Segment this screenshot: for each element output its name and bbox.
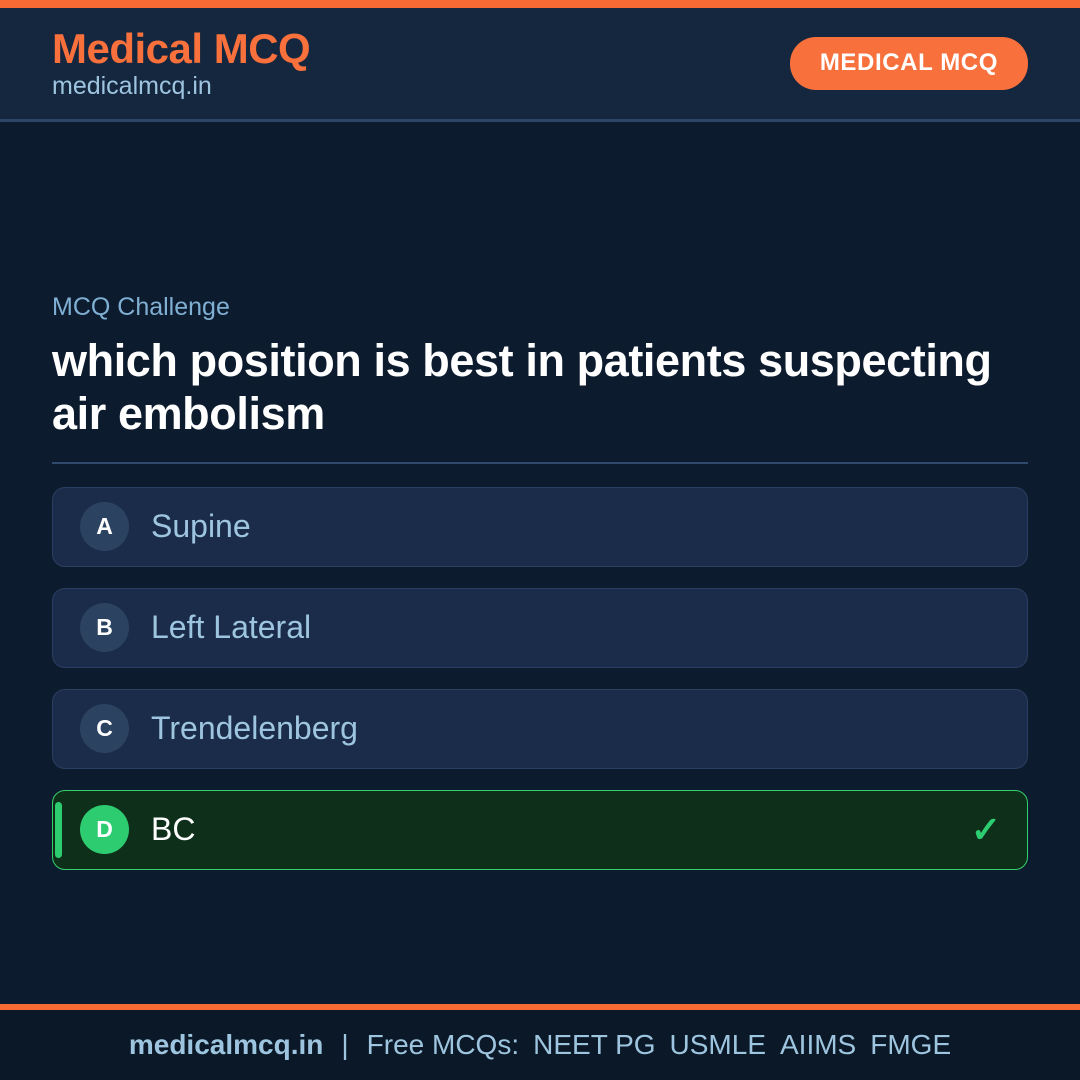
brand-block: Medical MCQ medicalmcq.in xyxy=(52,27,310,101)
footer-content: medicalmcq.in | Free MCQs: NEET PG USMLE… xyxy=(129,1029,951,1061)
footer-exam-aiims[interactable]: AIIMS xyxy=(766,1029,856,1061)
option-letter-badge: C xyxy=(80,704,129,753)
top-spacer xyxy=(52,122,1028,294)
correct-accent-bar xyxy=(55,802,62,858)
footer-exams-label: Free MCQs: xyxy=(367,1029,519,1061)
option-label: Left Lateral xyxy=(151,610,971,645)
footer-exam-usmle[interactable]: USMLE xyxy=(656,1029,766,1061)
brand-subtitle: medicalmcq.in xyxy=(52,73,310,101)
option-row-c[interactable]: C Trendelenberg ✓ xyxy=(52,689,1028,769)
option-label: Trendelenberg xyxy=(151,711,971,746)
mcq-card: Medical MCQ medicalmcq.in MEDICAL MCQ MC… xyxy=(0,0,1080,1080)
option-row-a[interactable]: A Supine ✓ xyxy=(52,487,1028,567)
main-content: MCQ Challenge which position is best in … xyxy=(0,122,1080,1004)
option-row-b[interactable]: B Left Lateral ✓ xyxy=(52,588,1028,668)
options-list: A Supine ✓ B Left Lateral ✓ C Trendelenb… xyxy=(52,487,1028,870)
top-accent-bar xyxy=(0,0,1080,8)
option-letter-badge: B xyxy=(80,603,129,652)
header-bar: Medical MCQ medicalmcq.in MEDICAL MCQ xyxy=(0,8,1080,122)
check-icon: ✓ xyxy=(971,812,1001,848)
question-divider xyxy=(52,462,1028,464)
option-label: BC xyxy=(151,812,971,847)
brand-title: Medical MCQ xyxy=(52,27,310,71)
footer-site-link[interactable]: medicalmcq.in xyxy=(129,1029,324,1061)
option-row-d[interactable]: D BC ✓ xyxy=(52,790,1028,870)
header-badge: MEDICAL MCQ xyxy=(790,37,1028,90)
footer-exam-neet-pg[interactable]: NEET PG xyxy=(519,1029,655,1061)
option-letter-badge: D xyxy=(80,805,129,854)
footer-separator: | xyxy=(323,1029,366,1061)
option-letter-badge: A xyxy=(80,502,129,551)
footer-exam-fmge[interactable]: FMGE xyxy=(856,1029,951,1061)
question-text: which position is best in patients suspe… xyxy=(52,334,1028,440)
option-label: Supine xyxy=(151,509,971,544)
footer-bar: medicalmcq.in | Free MCQs: NEET PG USMLE… xyxy=(0,1010,1080,1080)
eyebrow-label: MCQ Challenge xyxy=(52,294,1028,322)
